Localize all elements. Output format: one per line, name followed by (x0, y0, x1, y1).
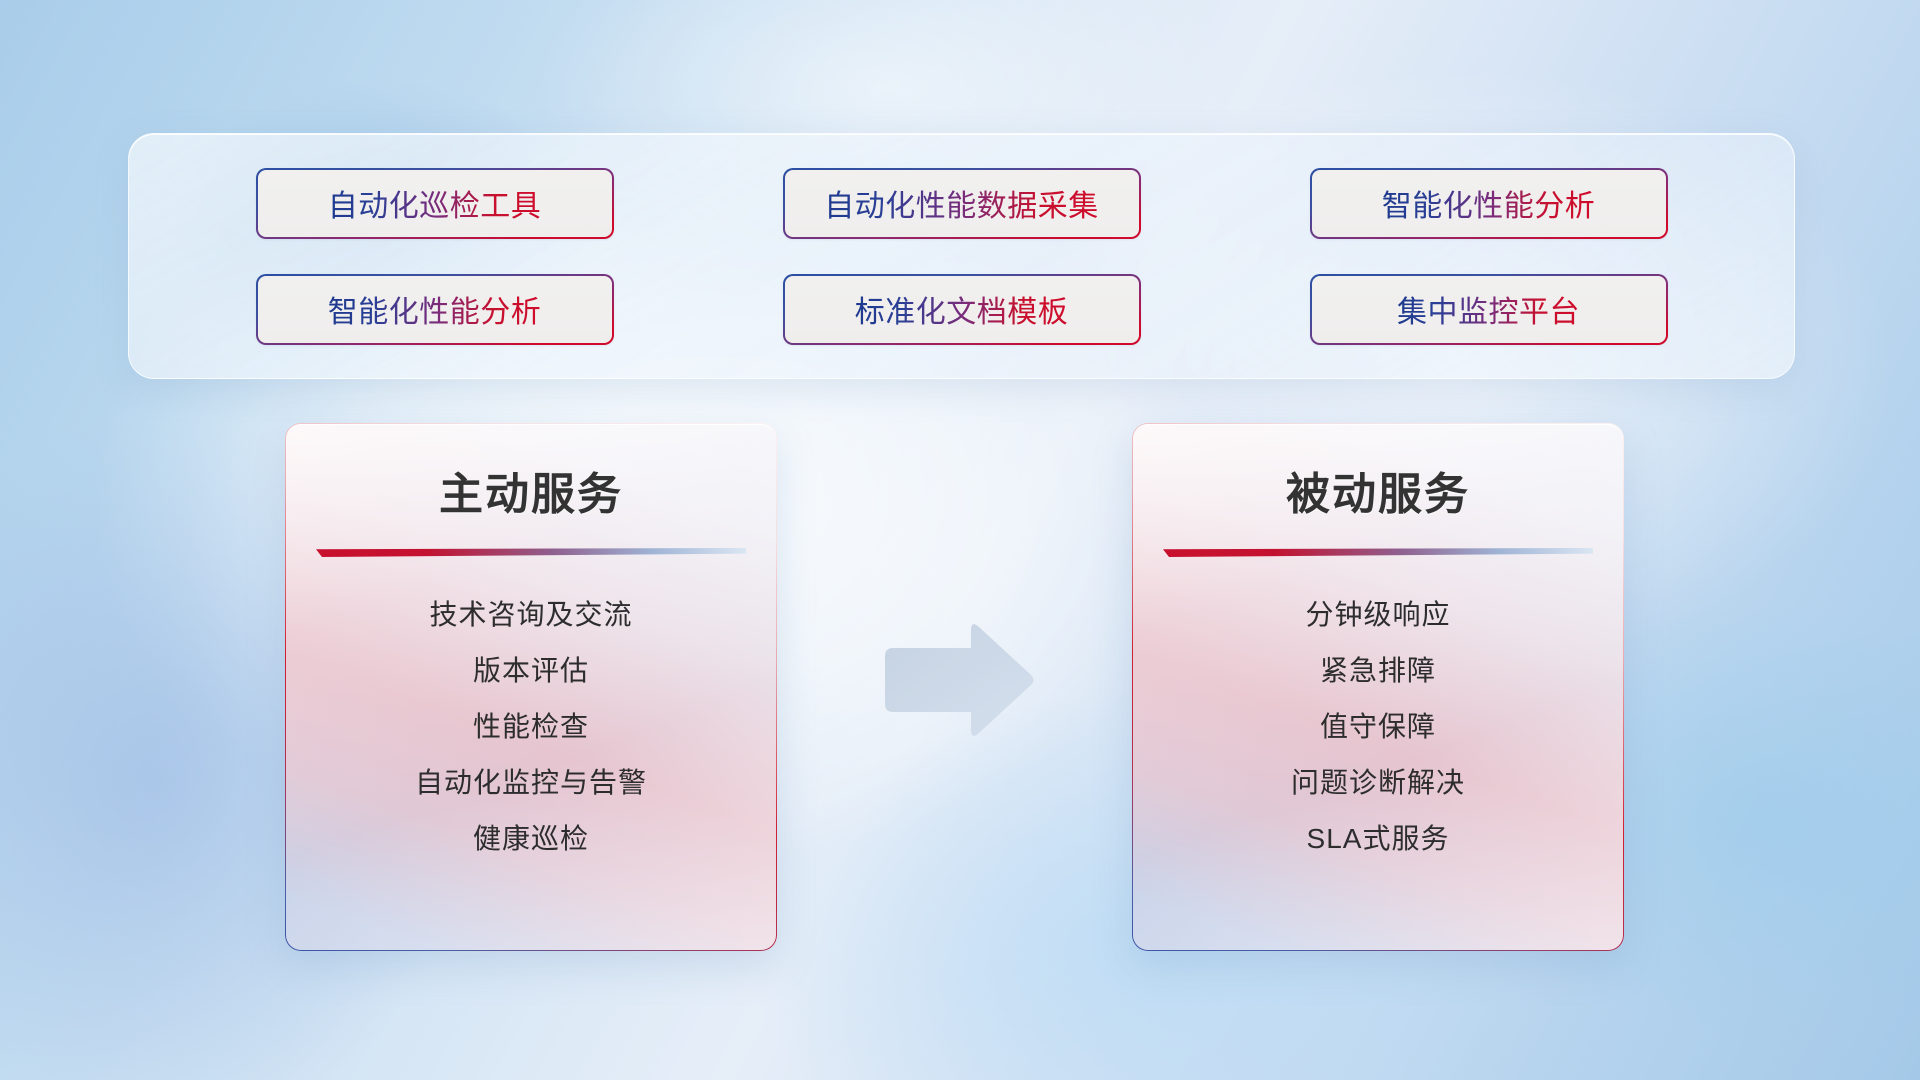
service-card-proactive: 主动服务 技术咨询及交流 版本评估 性能检查 自动化监控与告警 健康巡检 (285, 423, 777, 951)
capability-pill-label: 集中监控平台 (1397, 287, 1580, 331)
capability-panel: 自动化巡检工具 自动化性能数据采集 智能化性能分析 智能化性能分析 标准化文档模… (128, 133, 1795, 379)
capability-pill-5[interactable]: 标准化文档模板 (783, 274, 1141, 345)
capability-pill-1[interactable]: 自动化巡检工具 (256, 168, 614, 239)
capability-pill-label: 自动化性能数据采集 (824, 181, 1099, 225)
capability-pill-6[interactable]: 集中监控平台 (1310, 274, 1668, 345)
service-list-item[interactable]: SLA式服务 (1133, 811, 1623, 867)
card-title: 被动服务 (1133, 458, 1623, 522)
capability-pill-label: 自动化巡检工具 (328, 181, 542, 225)
service-list-item[interactable]: 值守保障 (1133, 699, 1623, 755)
capability-pill-label: 标准化文档模板 (855, 287, 1069, 331)
service-list-item[interactable]: 紧急排障 (1133, 643, 1623, 699)
card-divider (1163, 548, 1593, 557)
capability-pill-label: 智能化性能分析 (1382, 181, 1596, 225)
service-list-item[interactable]: 性能检查 (286, 699, 776, 755)
service-list-item[interactable]: 技术咨询及交流 (286, 587, 776, 643)
arrow-right-icon (877, 622, 1037, 737)
arrow-right-glyph (877, 622, 1037, 737)
service-list-item[interactable]: 问题诊断解决 (1133, 755, 1623, 811)
capability-pill-grid: 自动化巡检工具 自动化性能数据采集 智能化性能分析 智能化性能分析 标准化文档模… (129, 134, 1794, 378)
capability-pill-label: 智能化性能分析 (328, 287, 542, 331)
capability-pill-3[interactable]: 智能化性能分析 (1310, 168, 1668, 239)
service-list-proactive: 技术咨询及交流 版本评估 性能检查 自动化监控与告警 健康巡检 (286, 587, 776, 867)
service-list-item[interactable]: 版本评估 (286, 643, 776, 699)
card-title: 主动服务 (286, 458, 776, 522)
service-list-item[interactable]: 健康巡检 (286, 811, 776, 867)
service-list-item[interactable]: 自动化监控与告警 (286, 755, 776, 811)
capability-pill-4[interactable]: 智能化性能分析 (256, 274, 614, 345)
service-list-reactive: 分钟级响应 紧急排障 值守保障 问题诊断解决 SLA式服务 (1133, 587, 1623, 867)
card-divider (316, 548, 746, 557)
service-list-item[interactable]: 分钟级响应 (1133, 587, 1623, 643)
divider-bar-icon (316, 548, 746, 557)
divider-bar-icon (1163, 548, 1593, 557)
service-card-reactive: 被动服务 分钟级响应 紧急排障 值守保障 问题诊断解决 SLA式服务 (1132, 423, 1624, 951)
capability-pill-2[interactable]: 自动化性能数据采集 (783, 168, 1141, 239)
